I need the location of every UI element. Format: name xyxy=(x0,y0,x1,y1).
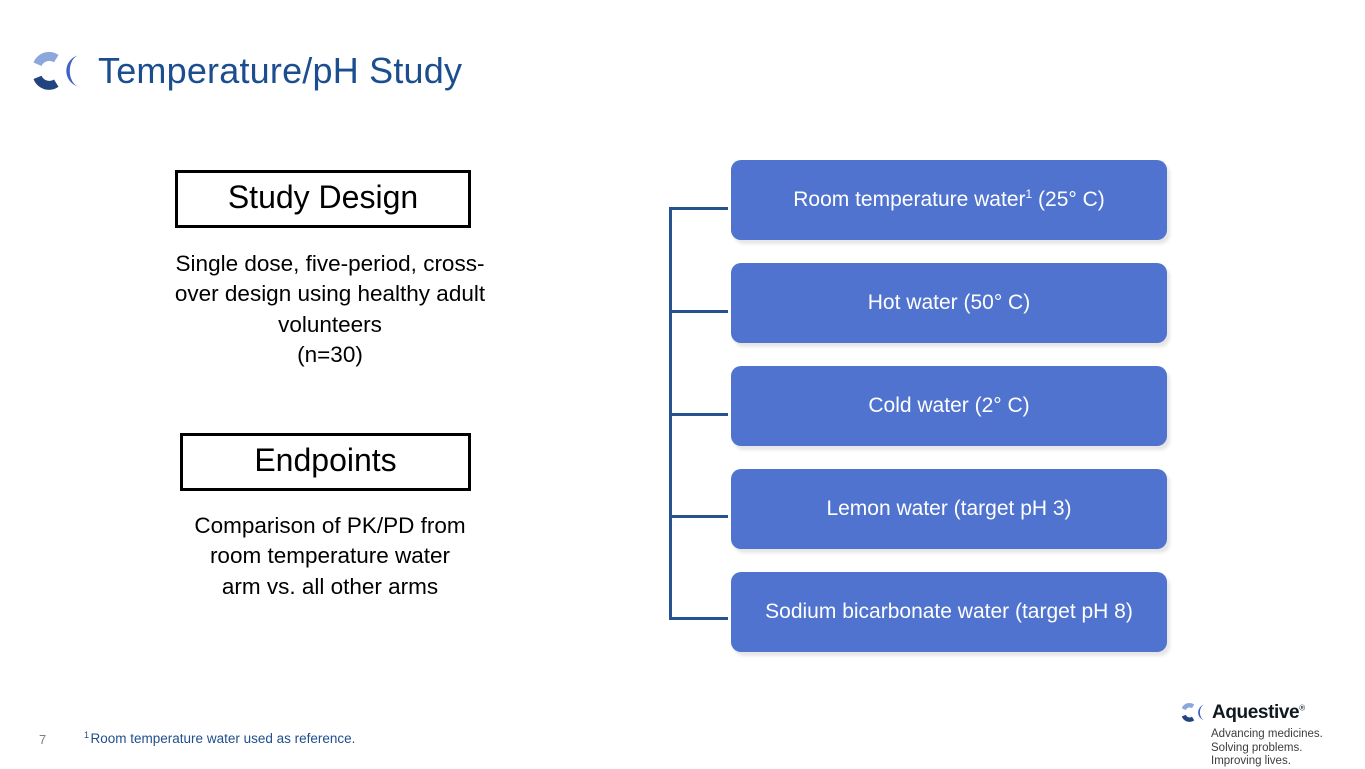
corporate-tagline: Advancing medicines. Solving problems. I… xyxy=(1211,728,1358,769)
corporate-tagline-line: Solving problems. xyxy=(1211,742,1358,756)
slide-header: Temperature/pH Study xyxy=(26,48,462,94)
study-arms-region: Room temperature water1 (25° C) Hot wate… xyxy=(660,160,1200,665)
arm-box-room-temperature-water[interactable]: Room temperature water1 (25° C) xyxy=(731,160,1167,240)
corporate-logo-top-row: Aquestive® xyxy=(1178,701,1358,724)
aquestive-c-mark-icon xyxy=(26,48,82,94)
column-spacer xyxy=(120,371,540,433)
study-design-body-line: volunteers xyxy=(120,310,540,341)
endpoints-heading-label: Endpoints xyxy=(193,440,458,481)
study-design-body-line: over design using healthy adult xyxy=(120,279,540,310)
registered-trademark-mark: ® xyxy=(1299,704,1305,713)
endpoints-heading-box: Endpoints xyxy=(180,433,471,491)
study-design-heading-label: Study Design xyxy=(188,177,458,218)
endpoints-body-line: room temperature water xyxy=(120,541,540,572)
arm-label: Room temperature water1 (25° C) xyxy=(793,187,1105,212)
corporate-wordmark-text: Aquestive xyxy=(1212,702,1299,723)
arm-label: Cold water (2° C) xyxy=(868,393,1029,418)
arm-label-text: Room temperature water xyxy=(793,188,1025,211)
endpoints-body: Comparison of PK/PD from room temperatur… xyxy=(120,511,540,603)
study-design-body: Single dose, five-period, cross- over de… xyxy=(120,249,540,371)
study-arms-list: Room temperature water1 (25° C) Hot wate… xyxy=(731,160,1171,652)
page-title: Temperature/pH Study xyxy=(98,53,462,89)
left-column: Study Design Single dose, five-period, c… xyxy=(120,170,540,602)
footnote-text: Room temperature water used as reference… xyxy=(91,731,356,746)
arm-label: Hot water (50° C) xyxy=(868,290,1030,315)
arm-box-hot-water[interactable]: Hot water (50° C) xyxy=(731,263,1167,343)
footnote-marker: 1 xyxy=(84,730,89,740)
arm-box-sodium-bicarbonate-water[interactable]: Sodium bicarbonate water (target pH 8) xyxy=(731,572,1167,652)
page-number: 7 xyxy=(39,732,46,747)
study-design-body-line: (n=30) xyxy=(120,340,540,371)
arm-box-cold-water[interactable]: Cold water (2° C) xyxy=(731,366,1167,446)
corporate-wordmark: Aquestive® xyxy=(1212,703,1305,722)
endpoints-body-line: Comparison of PK/PD from xyxy=(120,511,540,542)
arm-label: Lemon water (target pH 3) xyxy=(826,496,1071,521)
aquestive-c-mark-icon xyxy=(1178,701,1206,724)
corporate-logo-lockup: Aquestive® Advancing medicines. Solving … xyxy=(1178,701,1358,769)
footnote: 1Room temperature water used as referenc… xyxy=(84,731,355,746)
endpoints-body-line: arm vs. all other arms xyxy=(120,572,540,603)
corporate-tagline-line: Improving lives. xyxy=(1211,755,1358,769)
arm-label-suffix: (25° C) xyxy=(1032,188,1105,211)
study-design-body-line: Single dose, five-period, cross- xyxy=(120,249,540,280)
arm-box-lemon-water[interactable]: Lemon water (target pH 3) xyxy=(731,469,1167,549)
study-design-heading-box: Study Design xyxy=(175,170,471,228)
corporate-tagline-line: Advancing medicines. xyxy=(1211,728,1358,742)
arm-label: Sodium bicarbonate water (target pH 8) xyxy=(765,599,1133,624)
